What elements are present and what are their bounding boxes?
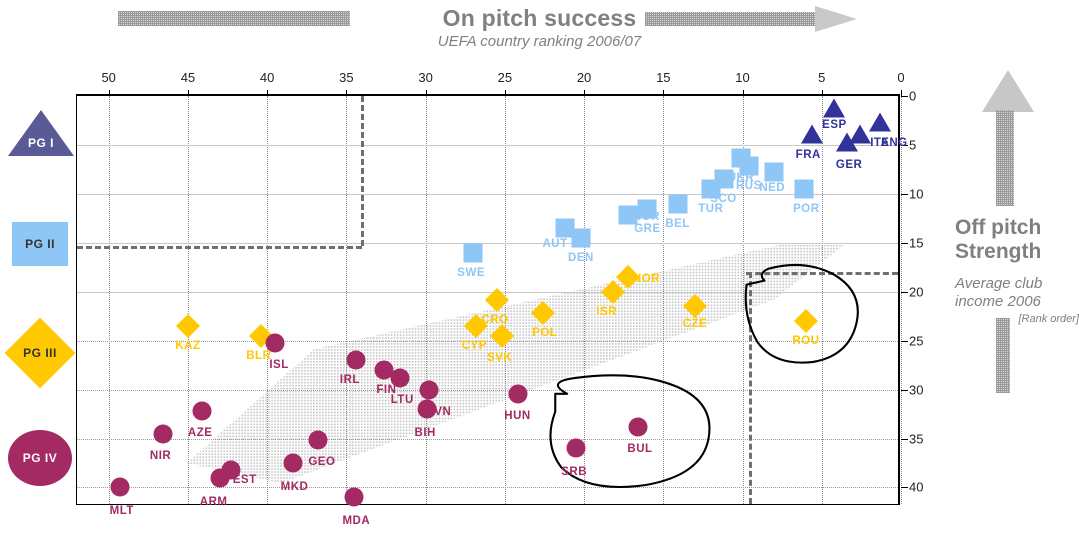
data-label-irl: IRL	[340, 374, 360, 386]
data-label-srb: SRB	[561, 466, 587, 478]
data-point-cze[interactable]	[683, 294, 707, 318]
x-axis-label: 45	[181, 70, 195, 85]
data-label-nor: NOR	[633, 273, 660, 285]
data-label-cyp: CYP	[462, 340, 487, 352]
data-point-srb[interactable]	[567, 439, 586, 458]
x-axis-label: 0	[897, 70, 904, 85]
data-label-bel: BEL	[665, 218, 690, 230]
chart-subtitle: UEFA country ranking 2006/07	[0, 33, 1079, 50]
data-label-aut: AUT	[542, 238, 567, 250]
legend-item-pg3[interactable]: PG III	[5, 318, 75, 388]
gridline-vertical	[188, 96, 189, 504]
data-label-isr: ISR	[596, 306, 617, 318]
data-label-mkd: MKD	[281, 481, 309, 493]
quadrant-line-left-vertical	[361, 96, 364, 246]
y-axis-tick	[901, 243, 908, 244]
gridline-horizontal	[77, 292, 898, 293]
scatter-plot-area: 504540353025201510500510152025303540 ESP…	[76, 94, 900, 505]
x-axis-tick	[584, 90, 585, 96]
data-label-aze: AZE	[188, 427, 213, 439]
legend-label-pg4: PG IV	[8, 451, 72, 465]
data-label-por: POR	[793, 203, 819, 215]
x-axis-tick	[663, 90, 664, 96]
x-axis-tick	[188, 90, 189, 96]
data-point-isr[interactable]	[601, 280, 625, 304]
data-point-hun[interactable]	[508, 385, 527, 404]
quadrant-line-right-horizontal	[746, 272, 898, 275]
x-axis-label: 30	[418, 70, 432, 85]
data-label-esp: ESP	[822, 119, 847, 131]
data-label-ger: GER	[836, 159, 862, 171]
y-axis-label: 30	[909, 382, 923, 397]
data-point-ukr[interactable]	[731, 148, 750, 167]
gridline-vertical	[346, 96, 347, 504]
x-axis-tick	[109, 90, 110, 96]
up-arrow-icon	[955, 70, 1079, 210]
x-axis-label: 40	[260, 70, 274, 85]
data-point-rou[interactable]	[794, 309, 818, 333]
data-label-arm: ARM	[200, 496, 228, 508]
data-point-kaz[interactable]	[176, 314, 200, 338]
data-point-aze[interactable]	[193, 402, 212, 421]
data-label-hun: HUN	[504, 410, 530, 422]
y-axis-tick	[901, 390, 908, 391]
data-point-por[interactable]	[795, 179, 814, 198]
gridline-horizontal	[77, 487, 898, 488]
y-axis-label: 0	[909, 89, 916, 104]
legend-item-pg4[interactable]: PG IV	[8, 430, 72, 486]
gridline-vertical	[901, 96, 902, 504]
x-axis-label: 20	[577, 70, 591, 85]
data-label-svk: SVK	[487, 352, 512, 364]
data-point-ned[interactable]	[765, 163, 784, 182]
off-pitch-panel: Off pitch Strength Average club income 2…	[955, 70, 1079, 325]
gridline-vertical	[663, 96, 664, 504]
legend-label-pg3: PG III	[5, 346, 75, 360]
data-label-ita: ITA	[870, 137, 889, 149]
data-point-geo[interactable]	[308, 431, 327, 450]
data-point-svk[interactable]	[490, 324, 514, 348]
y-axis-tick	[901, 292, 908, 293]
data-label-ned: NED	[759, 182, 785, 194]
quadrant-line-left-horizontal	[77, 246, 362, 249]
right-panel-title-line1: Off pitch	[955, 216, 1079, 240]
data-label-bih: BIH	[415, 427, 436, 439]
data-point-svn[interactable]	[419, 380, 438, 399]
data-label-ltu: LTU	[391, 394, 414, 406]
x-axis-tick	[267, 90, 268, 96]
data-point-bul[interactable]	[628, 417, 647, 436]
gridline-vertical	[822, 96, 823, 504]
right-panel-subtitle-line1: Average club	[955, 275, 1079, 293]
x-axis-tick	[346, 90, 347, 96]
data-point-mlt[interactable]	[110, 478, 129, 497]
data-point-irl[interactable]	[346, 351, 365, 370]
legend-item-pg2[interactable]: PG II	[12, 222, 68, 266]
x-axis-tick	[743, 90, 744, 96]
x-axis-label: 50	[101, 70, 115, 85]
data-label-gre: GRE	[634, 223, 660, 235]
gridline-horizontal	[77, 243, 898, 244]
y-axis-label: 25	[909, 333, 923, 348]
data-label-blr: BLR	[246, 350, 271, 362]
gridline-vertical	[426, 96, 427, 504]
data-point-ltu[interactable]	[391, 368, 410, 387]
gridline-vertical	[109, 96, 110, 504]
data-label-nir: NIR	[150, 450, 171, 462]
data-label-geo: GEO	[308, 456, 335, 468]
data-point-bel[interactable]	[668, 194, 687, 213]
y-axis-tick	[901, 96, 908, 97]
right-panel-title-line2: Strength	[955, 240, 1079, 264]
y-axis-tick	[901, 439, 908, 440]
data-point-arm[interactable]	[210, 468, 229, 487]
data-label-mda: MDA	[342, 515, 370, 527]
data-point-mda[interactable]	[345, 488, 364, 507]
data-point-swe[interactable]	[464, 243, 483, 262]
x-axis-label: 15	[656, 70, 670, 85]
x-axis-tick	[505, 90, 506, 96]
y-axis-label: 40	[909, 480, 923, 495]
y-axis-label: 35	[909, 431, 923, 446]
data-label-fra: FRA	[796, 149, 821, 161]
right-panel-note: [Rank order]	[955, 313, 1079, 325]
y-axis-label: 10	[909, 186, 923, 201]
chart-page: On pitch success UEFA country ranking 20…	[0, 0, 1079, 542]
gridline-horizontal	[77, 145, 898, 146]
x-axis-label: 5	[818, 70, 825, 85]
data-point-eng[interactable]	[869, 113, 891, 132]
data-point-ger[interactable]	[836, 133, 858, 152]
x-axis-label: 35	[339, 70, 353, 85]
data-label-den: DEN	[568, 252, 594, 264]
data-point-pol[interactable]	[531, 301, 555, 325]
bottom-bar-icon	[996, 318, 1010, 393]
data-label-pol: POL	[532, 327, 557, 339]
data-label-swe: SWE	[457, 267, 485, 279]
data-label-isl: ISL	[269, 359, 288, 371]
data-point-mkd[interactable]	[283, 453, 302, 472]
x-axis-label: 10	[735, 70, 749, 85]
chart-title: On pitch success	[0, 5, 1079, 32]
x-axis-tick	[426, 90, 427, 96]
data-label-mlt: MLT	[110, 505, 134, 517]
y-axis-tick	[901, 341, 908, 342]
data-point-bih[interactable]	[418, 400, 437, 419]
legend-label-pg2: PG II	[12, 237, 68, 251]
quadrant-line-right-vertical	[749, 272, 752, 504]
x-axis-tick	[822, 90, 823, 96]
legend-item-pg1[interactable]: PG I	[8, 110, 74, 156]
gridline-horizontal	[77, 390, 898, 391]
y-axis-tick	[901, 487, 908, 488]
data-point-den[interactable]	[571, 228, 590, 247]
y-axis-label: 15	[909, 235, 923, 250]
data-point-gre[interactable]	[638, 199, 657, 218]
data-point-fra[interactable]	[801, 125, 823, 144]
data-point-nir[interactable]	[153, 424, 172, 443]
legend-label-pg1: PG I	[8, 136, 74, 150]
data-label-sco: SCO	[710, 193, 736, 205]
data-label-rou: ROU	[792, 335, 819, 347]
data-label-kaz: KAZ	[175, 340, 200, 352]
data-point-sco[interactable]	[714, 170, 733, 189]
y-axis-label: 20	[909, 284, 923, 299]
data-label-est: EST	[233, 474, 257, 486]
data-label-bul: BUL	[627, 443, 652, 455]
y-axis-tick	[901, 194, 908, 195]
data-label-cze: CZE	[683, 318, 708, 330]
data-point-esp[interactable]	[823, 98, 845, 117]
y-axis-label: 5	[909, 137, 916, 152]
data-point-isl[interactable]	[266, 333, 285, 352]
x-axis-label: 25	[498, 70, 512, 85]
right-panel-subtitle-line2: income 2006	[955, 293, 1079, 311]
gridline-vertical	[267, 96, 268, 504]
